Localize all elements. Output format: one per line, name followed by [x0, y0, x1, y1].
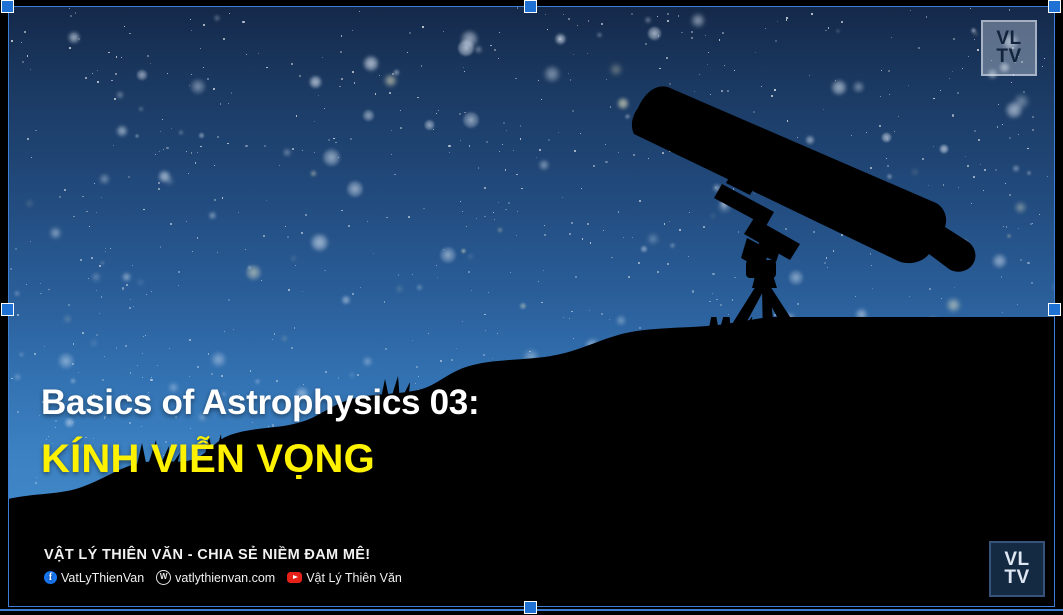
footer-link-website-label: vatlythienvan.com [175, 571, 275, 585]
page-subtitle: KÍNH VIỄN VỌNG [41, 438, 479, 480]
website-icon: W [156, 570, 171, 585]
resize-handle-top-center[interactable] [524, 0, 537, 13]
footer-tagline: VẬT LÝ THIÊN VĂN - CHIA SẺ NIỀM ĐAM MÊ! [44, 547, 408, 563]
facebook-icon: f [44, 571, 57, 584]
footer-link-youtube-label: Vật Lý Thiên Văn [306, 571, 402, 585]
slide-background-image[interactable]: Basics of Astrophysics 03: KÍNH VIỄN VỌN… [8, 6, 1055, 607]
resize-handle-middle-left[interactable] [1, 303, 14, 316]
watermark-line-2: TV [996, 48, 1021, 66]
watermark-bottom-right: VL TV [989, 541, 1045, 597]
youtube-icon [287, 572, 302, 583]
footer-link-facebook-label: VatLyThienVan [61, 571, 144, 585]
watermark-top-right: VL TV [981, 20, 1037, 76]
footer-branding: VẬT LÝ THIÊN VĂN - CHIA SẺ NIỀM ĐAM MÊ! … [44, 547, 408, 585]
slide-title-block[interactable]: Basics of Astrophysics 03: KÍNH VIỄN VỌN… [41, 384, 479, 480]
footer-link-youtube[interactable]: Vật Lý Thiên Văn [287, 571, 402, 585]
footer-links: f VatLyThienVan W vatlythienvan.com Vật … [44, 570, 408, 585]
editor-canvas: Basics of Astrophysics 03: KÍNH VIỄN VỌN… [0, 0, 1063, 615]
footer-link-website[interactable]: W vatlythienvan.com [156, 570, 275, 585]
resize-handle-top-left[interactable] [1, 0, 14, 13]
resize-handle-top-right[interactable] [1048, 0, 1061, 13]
resize-handle-bottom-center[interactable] [524, 601, 537, 614]
resize-handle-middle-right[interactable] [1048, 303, 1061, 316]
watermark-line-2: TV [1004, 569, 1029, 587]
page-title: Basics of Astrophysics 03: [41, 384, 479, 422]
footer-link-facebook[interactable]: f VatLyThienVan [44, 571, 144, 585]
